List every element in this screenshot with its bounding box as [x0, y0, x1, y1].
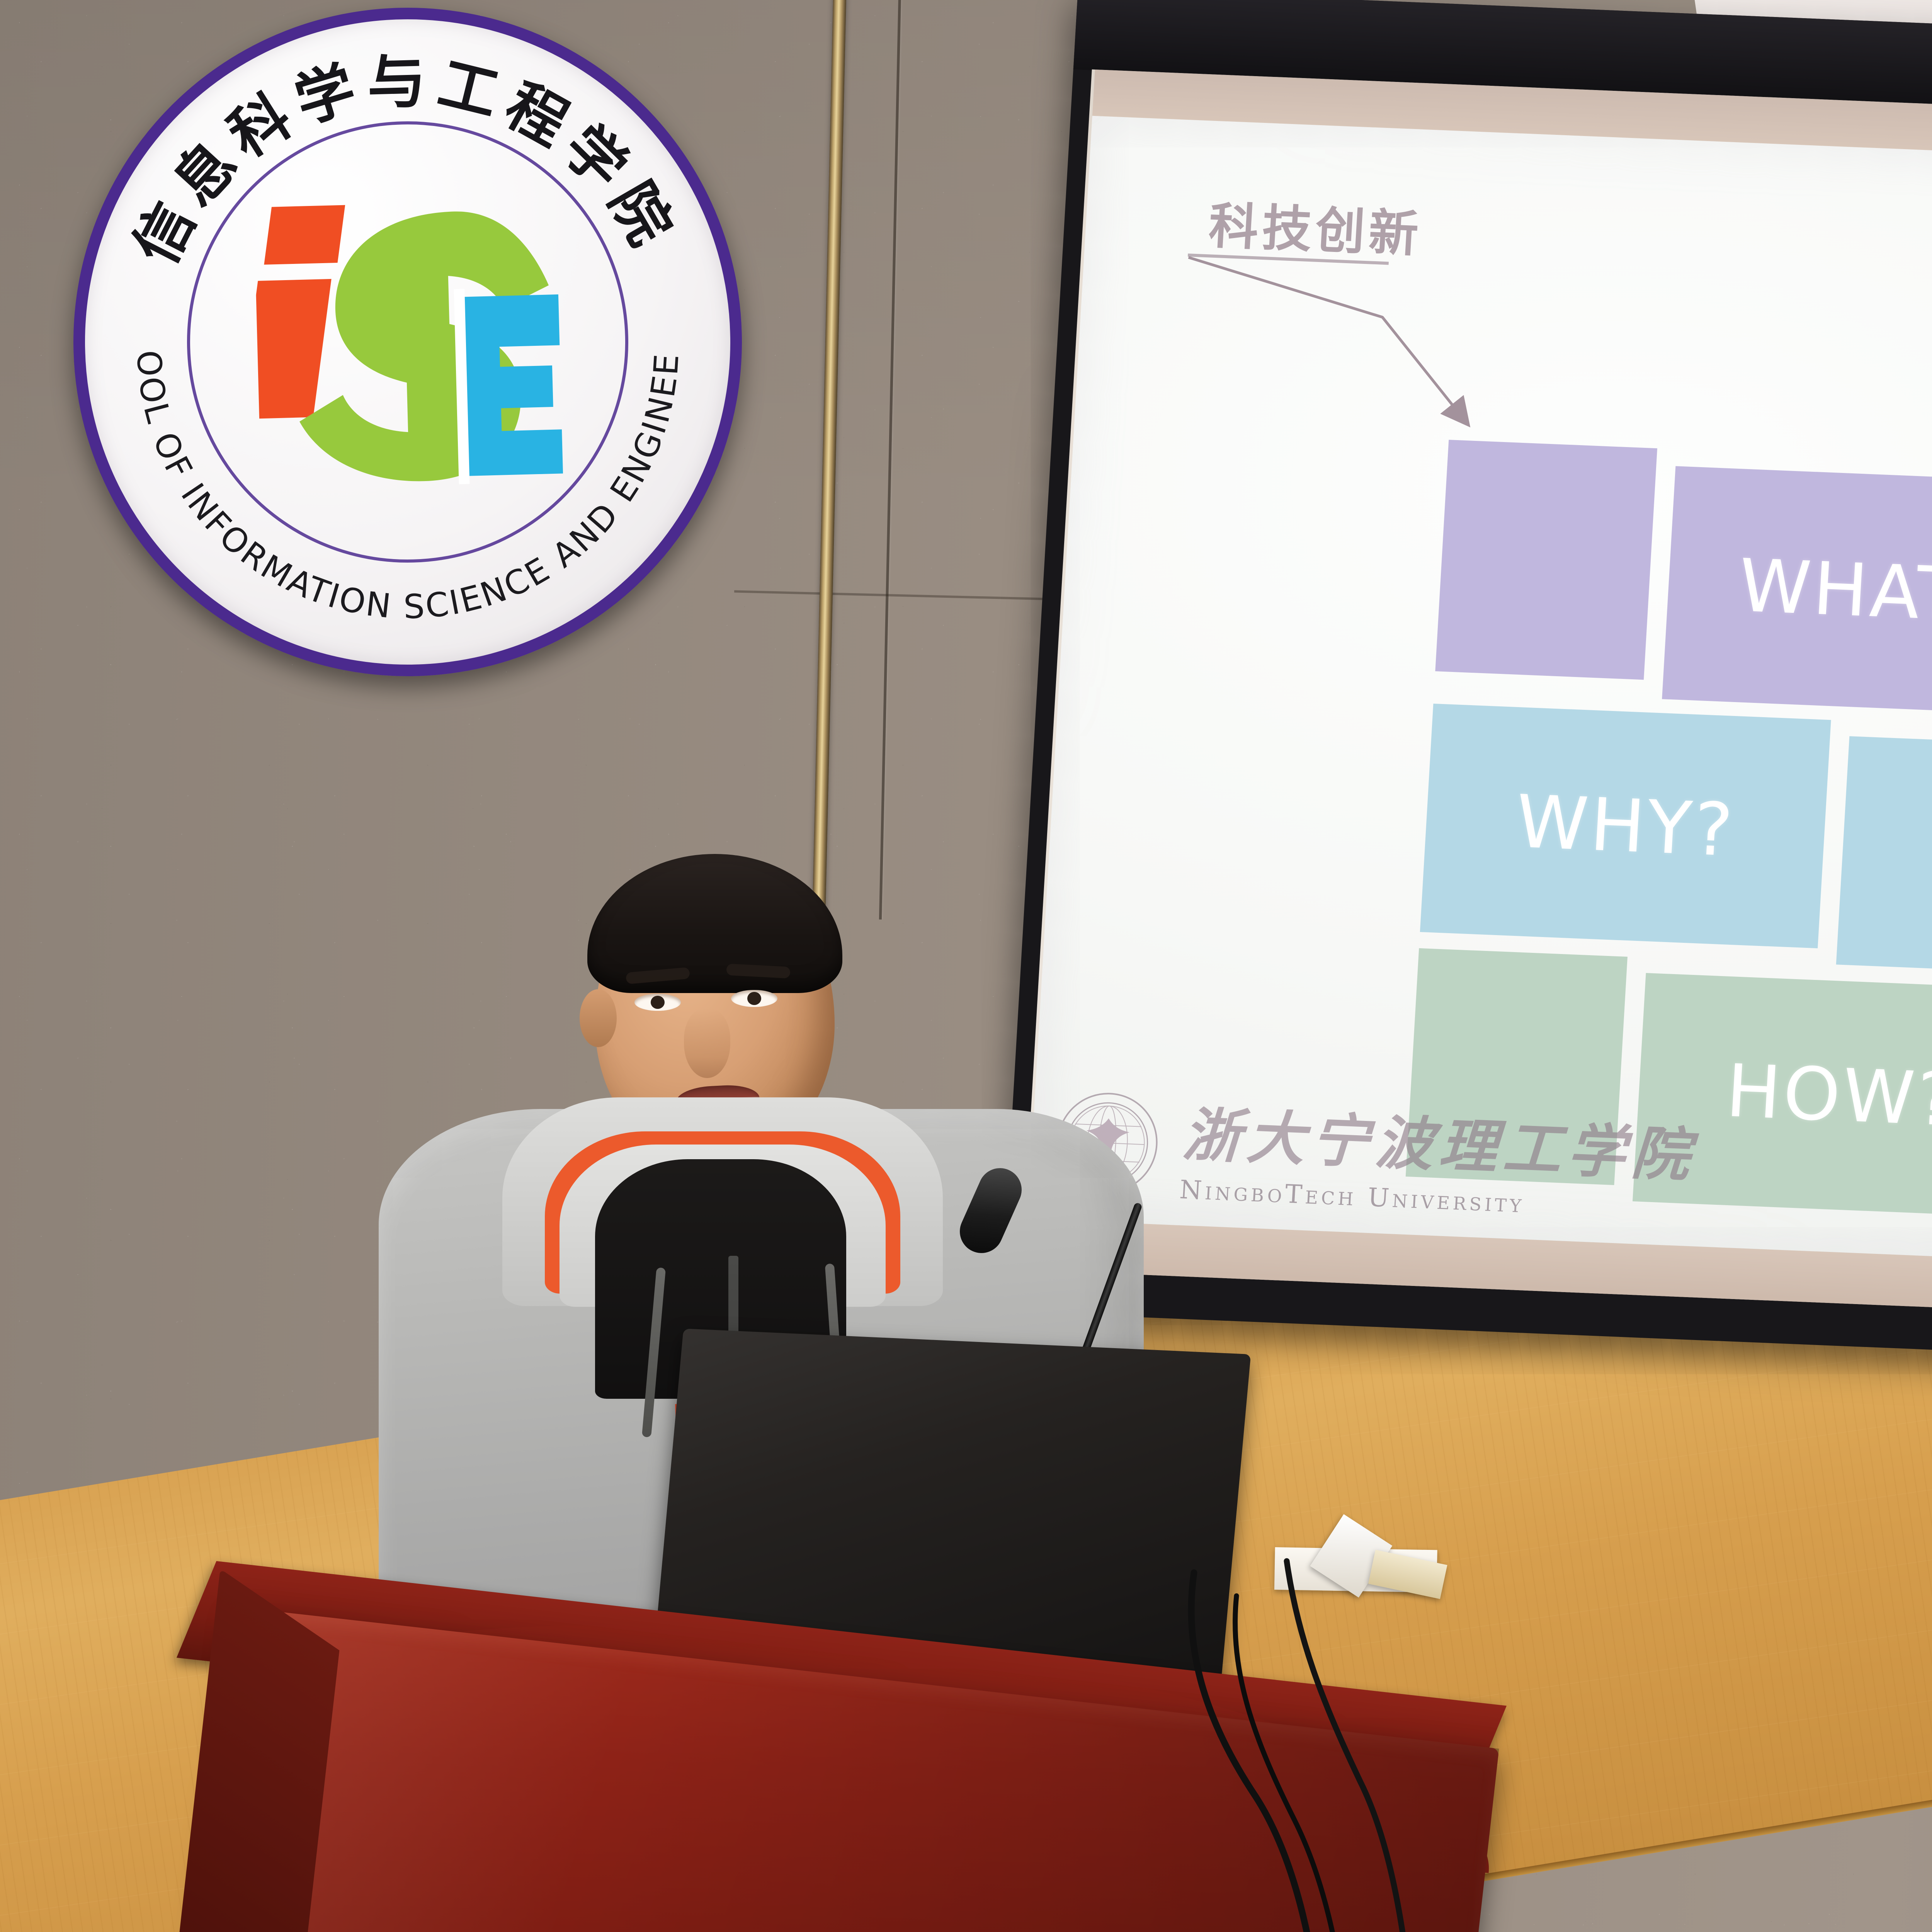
slide-block-label: [1836, 736, 1932, 973]
university-name-chinese: 浙大宁波理工学院: [1181, 1088, 1699, 1192]
slide-block-what-small: [1435, 440, 1657, 680]
school-emblem: 信息科学与工程学院 SCHOOL OF INFORMATION SCIENCE …: [65, 0, 751, 685]
slide-block-label: WHY?: [1420, 704, 1831, 948]
slide-block-label: [1435, 440, 1657, 680]
university-name-block: 浙大宁波理工学院 NingboTech University: [1179, 1088, 1699, 1225]
presenter-ear: [580, 989, 617, 1047]
presentation-slide: 科技创新 WHAT?: [1028, 116, 1932, 1286]
screen-surface: 科技创新 WHAT?: [1022, 70, 1932, 1337]
slide-block-why: WHY?: [1420, 704, 1831, 948]
lecture-hall-scene: 信息科学与工程学院 SCHOOL OF INFORMATION SCIENCE …: [0, 0, 1932, 1932]
presenter-eye: [731, 990, 777, 1007]
audio-cables: [1159, 1526, 1700, 1932]
slide-pointer-arrow: [1170, 247, 1567, 448]
slide-block-why-small: [1836, 736, 1932, 973]
presenter-nose: [684, 1009, 730, 1078]
slide-block-grid: WHAT? WHY? HOW?: [1410, 440, 1932, 1125]
presenter-eye: [634, 994, 681, 1011]
ise-monogram-icon: [253, 191, 569, 500]
slide-block-label: WHAT?: [1662, 466, 1932, 716]
slide-block-what: WHAT?: [1662, 466, 1932, 716]
presenter-hair: [587, 854, 842, 993]
